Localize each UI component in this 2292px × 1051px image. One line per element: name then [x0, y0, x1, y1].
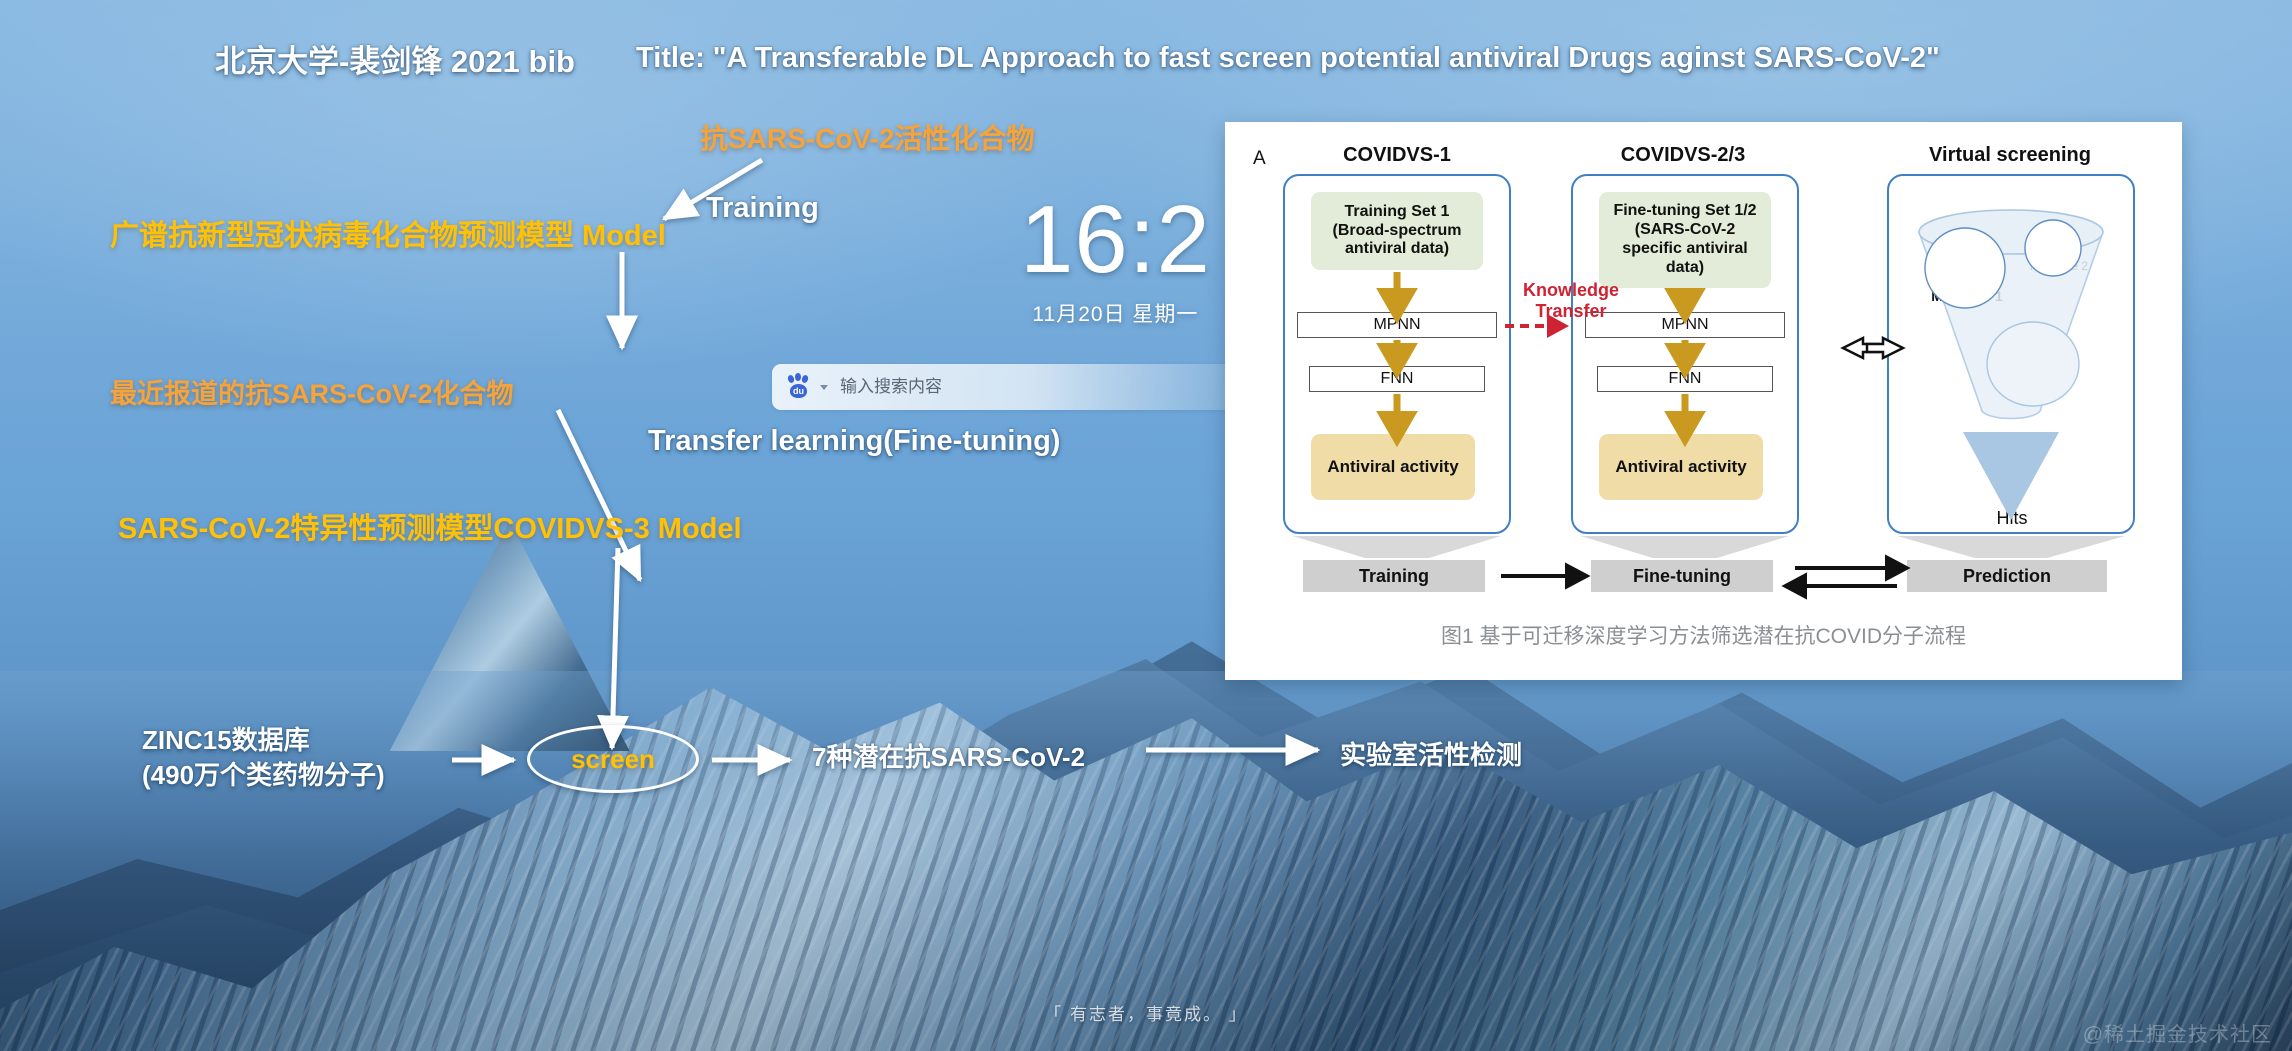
figure-hits-label: Hits — [1937, 508, 2087, 529]
annotation-actives: 抗SARS-CoV-2活性化合物 — [700, 117, 1034, 157]
figure-mpnn-col1: MPNN — [1297, 312, 1497, 338]
annotation-covidvs3-model: SARS-CoV-2特异性预测模型COVIDVS-3 Model — [118, 505, 742, 547]
figure-knowledge-transfer-label: Knowledge Transfer — [1503, 280, 1639, 321]
annotation-transfer-learning: Transfer learning(Fine-tuning) — [648, 425, 1060, 458]
clock-date: 11月20日 星期一 — [1020, 298, 1211, 328]
figure-panel: A COVIDVS-1 COVIDVS-2/3 Virtual screenin… — [1225, 122, 2182, 680]
annotation-recent-compounds: 最近报道的抗SARS-CoV-2化合物 — [110, 372, 514, 411]
annotation-broad-model: 广谱抗新型冠状病毒化合物预测模型 Model — [110, 212, 666, 254]
annotation-author: 北京大学-裴剑锋 2021 bib — [215, 36, 575, 81]
chevron-down-icon[interactable] — [820, 385, 828, 390]
annotation-zinc-line1: ZINC15数据库 — [142, 723, 385, 758]
figure-molecule-1-label: Molecule 1 — [1919, 288, 2015, 304]
figure-output-antiviral-col1: Antiviral activity — [1311, 434, 1475, 500]
figure-dataset-training-set1: Training Set 1 (Broad-spectrum antiviral… — [1311, 192, 1483, 270]
figure-molecule-3-label: Molecule 3 — [1987, 352, 2079, 367]
figure-stage-prediction: Prediction — [1907, 560, 2107, 592]
figure-panel-letter: A — [1253, 148, 1266, 170]
figure-diagram: A COVIDVS-1 COVIDVS-2/3 Virtual screenin… — [1247, 140, 2160, 605]
clock-widget: 16:2 11月20日 星期一 — [1020, 192, 1211, 328]
figure-column-title-virtual-screening: Virtual screening — [1875, 144, 2145, 167]
figure-dataset-finetuning-set: Fine-tuning Set 1/2 (SARS-CoV-2 specific… — [1599, 192, 1771, 288]
figure-output-antiviral-col2: Antiviral activity — [1599, 434, 1763, 500]
annotation-seven-candidates: 7种潜在抗SARS-CoV-2 — [812, 737, 1085, 774]
annotation-zinc-database: ZINC15数据库 (490万个类药物分子) — [142, 723, 385, 793]
figure-stage-finetuning: Fine-tuning — [1591, 560, 1773, 592]
screen-ellipse: screen — [527, 725, 699, 793]
annotation-zinc-line2: (490万个类药物分子) — [142, 758, 385, 793]
figure-stage-training: Training — [1303, 560, 1485, 592]
figure-column-title-covidvs1: COVIDVS-1 — [1277, 144, 1517, 167]
baidu-logo-text: du — [790, 384, 807, 398]
figure-column-title-covidvs23: COVIDVS-2/3 — [1523, 144, 1843, 167]
baidu-logo-icon[interactable]: du — [786, 374, 812, 400]
figure-fnn-col1: FNN — [1309, 366, 1485, 392]
clock-time: 16:2 — [1020, 192, 1211, 288]
desktop-motto: 「 有志者，事竟成。 」 — [0, 1000, 2292, 1025]
figure-molecule-2-label: Molecule 2 — [2023, 260, 2095, 274]
annotation-training: Training — [706, 192, 819, 225]
screen-label: screen — [571, 744, 655, 775]
figure-caption: 图1 基于可迁移深度学习方法筛选潜在抗COVID分子流程 — [1225, 620, 2182, 650]
figure-fnn-col2: FNN — [1597, 366, 1773, 392]
watermark: @稀土掘金技术社区 — [2083, 1018, 2272, 1047]
annotation-lab-assay: 实验室活性检测 — [1340, 735, 1522, 772]
annotation-paper-title: Title: "A Transferable DL Approach to fa… — [636, 42, 1940, 75]
